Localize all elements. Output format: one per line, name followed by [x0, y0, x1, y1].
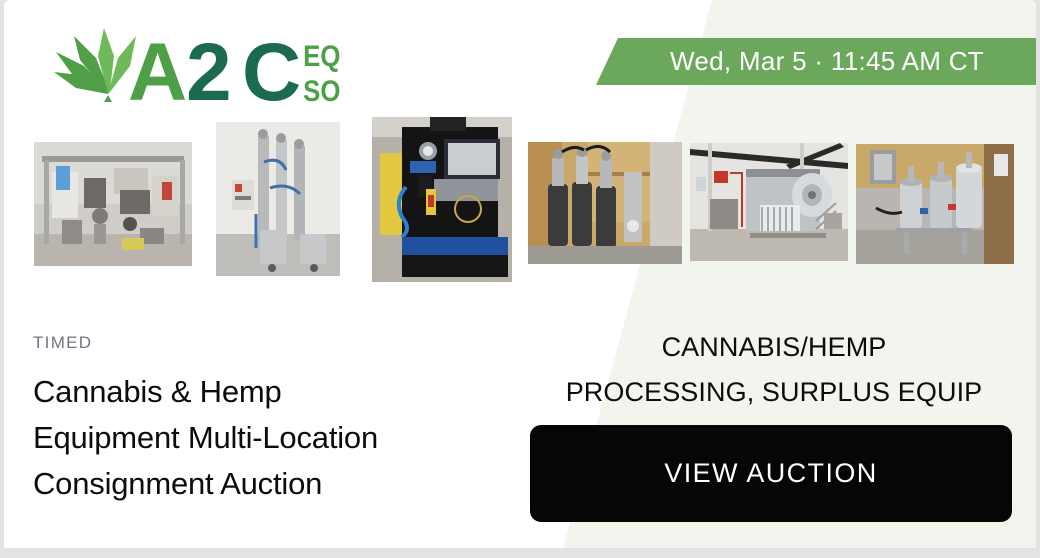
logo-artwork: A 2 C EQUIPMENT SOLUTIONS: [46, 22, 342, 108]
category-block: CANNABIS/HEMP PROCESSING, SURPLUS EQUIP: [514, 325, 1034, 415]
filtration-tanks-photo: [856, 144, 1014, 264]
logo-letter-a: A: [128, 27, 187, 108]
thumbnail-image[interactable]: [34, 142, 192, 266]
auction-title[interactable]: Cannabis & Hemp Equipment Multi-Location…: [33, 369, 503, 507]
auction-type-label: TIMED: [33, 333, 503, 353]
thumbnail-image[interactable]: [856, 144, 1014, 264]
freeze-dryer-photo: [690, 143, 848, 261]
auction-title-line-1: Cannabis & Hemp: [33, 369, 503, 415]
listing-info: TIMED Cannabis & Hemp Equipment Multi-Lo…: [33, 333, 503, 507]
brand-logo[interactable]: A 2 C EQUIPMENT SOLUTIONS: [46, 22, 342, 108]
logo-letter-c: C: [242, 27, 301, 108]
cannabis-leaf-icon: [54, 28, 136, 102]
logo-letter-2: 2: [186, 27, 232, 108]
auction-listing-card[interactable]: A 2 C EQUIPMENT SOLUTIONS Wed, Mar 5 · 1…: [4, 0, 1036, 548]
auction-title-line-2: Equipment Multi-Location: [33, 415, 503, 461]
distillation-columns-photo: [216, 122, 340, 276]
logo-wordmark-line1: EQUIPMENT: [303, 39, 342, 72]
page-background-strip: [0, 548, 1040, 558]
thumbnail-image[interactable]: [528, 142, 682, 264]
thumbnail-image[interactable]: [372, 117, 512, 282]
thumbnail-image[interactable]: [690, 143, 848, 261]
mobile-processing-unit-photo: [372, 117, 512, 282]
category-line-1: CANNABIS/HEMP: [514, 325, 1034, 370]
view-auction-button[interactable]: VIEW AUCTION: [530, 425, 1012, 522]
logo-wordmark-line2: SOLUTIONS: [303, 74, 342, 107]
category-line-2: PROCESSING, SURPLUS EQUIP: [514, 370, 1034, 415]
thumbnail-image[interactable]: [216, 122, 340, 276]
extraction-skid-photo: [34, 142, 192, 266]
auction-date-banner: Wed, Mar 5 · 11:45 AM CT: [596, 38, 1036, 85]
extraction-vessels-photo: [528, 142, 682, 264]
auction-title-line-3: Consignment Auction: [33, 461, 503, 507]
auction-date-text: Wed, Mar 5 · 11:45 AM CT: [670, 46, 984, 77]
